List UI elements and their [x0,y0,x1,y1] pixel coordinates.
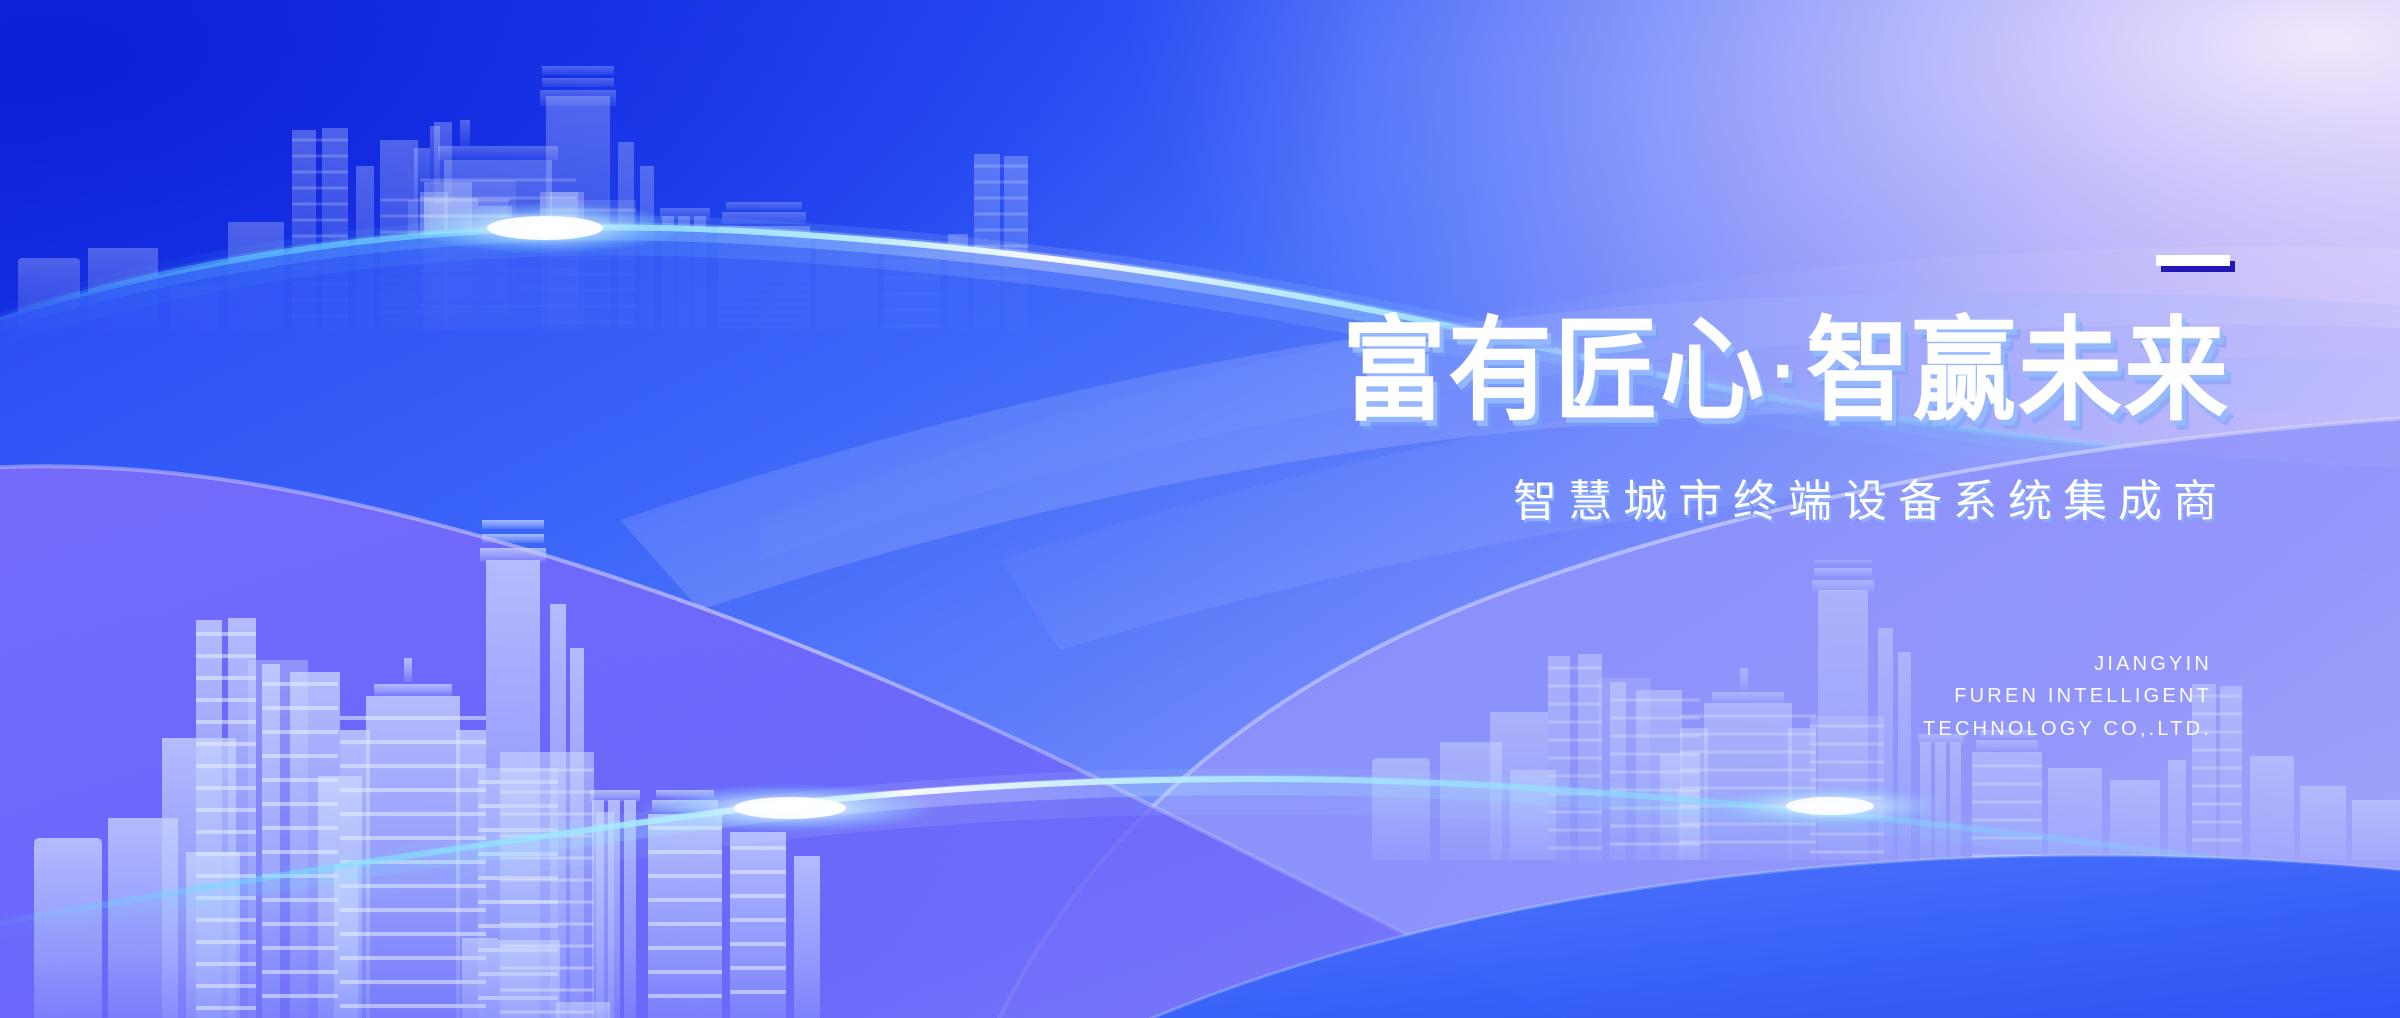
page-title: 富有匠心·智赢未来 [1030,312,2230,431]
headline-group: 富有匠心·智赢未来 智慧城市终端设备系统集成商 [1030,255,2230,529]
page-subtitle: 智慧城市终端设备系统集成商 [1030,465,2230,529]
banner-root: 富有匠心·智赢未来 智慧城市终端设备系统集成商 JIANGYIN FUREN I… [0,0,2400,1018]
company-line-2: FUREN INTELLIGENT [1923,680,2212,712]
title-separator: · [1766,323,1806,418]
company-name-block: JIANGYIN FUREN INTELLIGENT TECHNOLOGY CO… [1923,648,2212,745]
title-part-2: 智赢未来 [1806,309,2230,434]
company-line-1: JIANGYIN [1923,648,2212,680]
accent-dash-icon [2156,255,2230,266]
company-line-3: TECHNOLOGY CO,.LTD. [1923,713,2212,745]
title-part-1: 富有匠心 [1342,309,1766,434]
